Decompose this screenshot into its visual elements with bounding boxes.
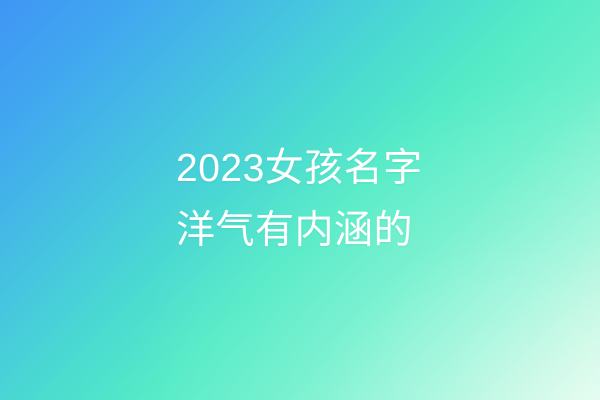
gradient-title-card: 2023女孩名字洋气有内涵的 xyxy=(0,0,600,400)
title-block: 2023女孩名字洋气有内涵的 xyxy=(176,0,438,400)
card-title: 2023女孩名字洋气有内涵的 xyxy=(176,138,438,262)
